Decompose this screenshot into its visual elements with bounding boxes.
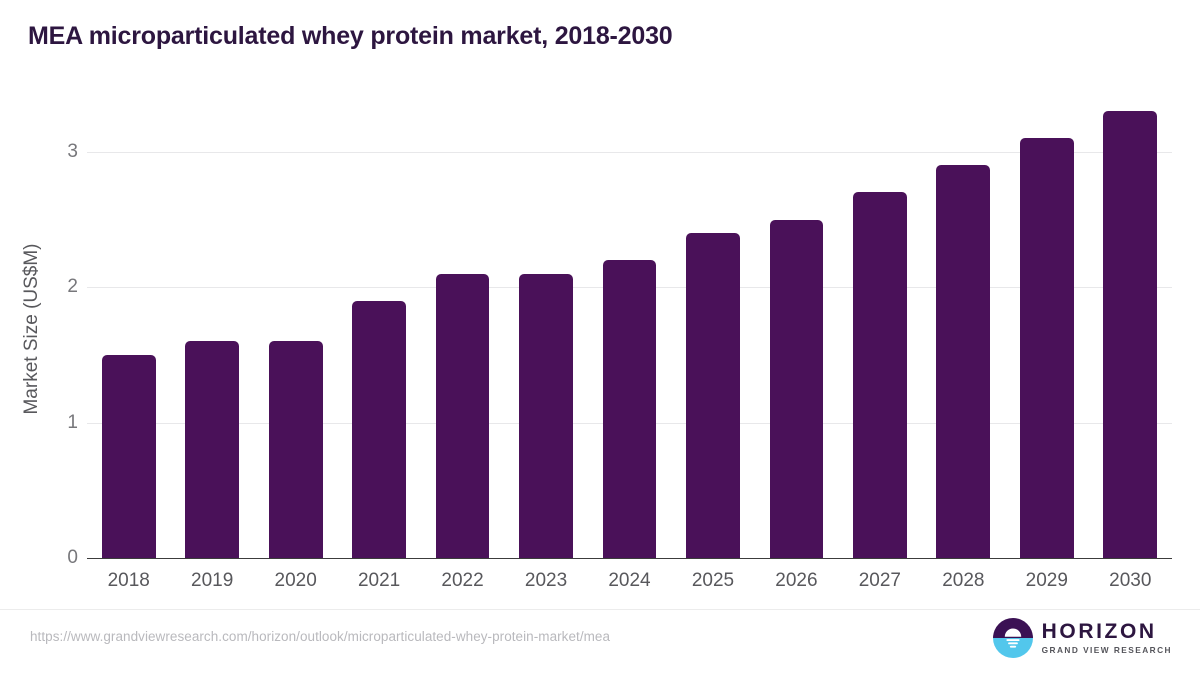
bar[interactable] [1020,138,1074,558]
x-tick-label: 2018 [108,570,150,592]
y-tick-label: 0 [0,547,78,569]
bar[interactable] [1103,111,1157,558]
logo-tagline: GRAND VIEW RESEARCH [1042,646,1172,654]
source-url[interactable]: https://www.grandviewresearch.com/horizo… [30,629,610,644]
bar[interactable] [519,274,573,558]
x-axis-ticks: 2018201920202021202220232024202520262027… [87,570,1172,600]
x-tick-label: 2023 [525,570,567,592]
x-tick-label: 2020 [275,570,317,592]
bar[interactable] [853,192,907,558]
chart-page: MEA microparticulated whey protein marke… [0,0,1200,675]
x-axis-line [87,558,1172,559]
y-axis-title: Market Size (US$M) [21,129,43,529]
x-tick-label: 2027 [859,570,901,592]
x-tick-label: 2021 [358,570,400,592]
x-tick-label: 2029 [1026,570,1068,592]
x-tick-label: 2024 [608,570,650,592]
horizon-logo[interactable]: HORIZON GRAND VIEW RESEARCH [993,617,1172,659]
bar[interactable] [352,301,406,558]
x-tick-label: 2028 [942,570,984,592]
x-tick-label: 2026 [775,570,817,592]
logo-wordmark: HORIZON [1042,621,1172,642]
x-tick-label: 2030 [1109,570,1151,592]
x-tick-label: 2022 [441,570,483,592]
x-tick-label: 2025 [692,570,734,592]
bar[interactable] [936,165,990,558]
bar[interactable] [102,355,156,558]
bar[interactable] [269,341,323,558]
bar[interactable] [770,220,824,558]
logo-text: HORIZON GRAND VIEW RESEARCH [1042,621,1172,654]
x-tick-label: 2019 [191,570,233,592]
footer-divider [0,609,1200,610]
bars-layer [87,0,1172,558]
bar[interactable] [686,233,740,558]
horizon-sun-icon [993,618,1033,658]
bar[interactable] [436,274,490,558]
bar[interactable] [603,260,657,558]
bar[interactable] [185,341,239,558]
